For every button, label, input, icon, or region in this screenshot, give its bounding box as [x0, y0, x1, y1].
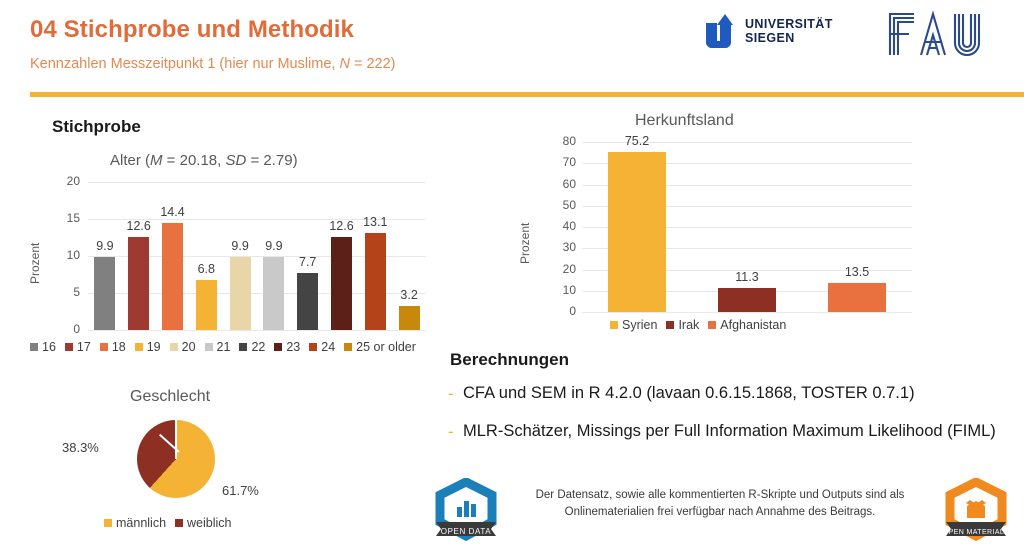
bar-label: 3.2	[391, 288, 428, 302]
bullet-text: MLR-Schätzer, Missings per Full Informat…	[463, 420, 996, 444]
alter-title-m: M	[150, 152, 163, 169]
fau-logo	[887, 10, 997, 58]
legend-item-16[interactable]: 16	[30, 340, 56, 354]
heading-stichprobe: Stichprobe	[52, 117, 141, 137]
bar-label: 9.9	[86, 239, 123, 253]
y-tick-label: 40	[536, 219, 576, 233]
y-tick-label: 80	[536, 134, 576, 148]
alter-legend: 16171819202122232425 or older	[30, 340, 425, 354]
bar-label: 6.8	[188, 262, 225, 276]
legend-label: Syrien	[622, 318, 657, 332]
bar-label: 7.7	[289, 255, 326, 269]
legend-swatch-icon	[344, 343, 352, 351]
list-item: - CFA und SEM in R 4.2.0 (lavaan 0.6.15.…	[448, 382, 1024, 406]
alter-title-sd: SD	[225, 152, 246, 169]
page-title: 04 Stichprobe und Methodik	[30, 16, 354, 44]
bullet-dash: -	[448, 382, 463, 406]
open-materials-badge-icon: OPEN MATERIALS	[934, 478, 1018, 548]
footer-note: Der Datensatz, sowie alle kommentierten …	[510, 487, 930, 520]
alter-title-mid1: = 20.18,	[163, 152, 226, 169]
open-materials-badge-label: OPEN MATERIALS	[943, 529, 1010, 536]
bar-Syrien	[608, 152, 665, 312]
legend-item-22[interactable]: 22	[239, 340, 265, 354]
y-tick-label: 70	[536, 155, 576, 169]
legend-swatch-icon	[65, 343, 73, 351]
bar-label: 11.3	[710, 270, 783, 284]
y-tick-label: 15	[46, 211, 80, 225]
bar-18	[162, 223, 183, 330]
alter-y-axis-label: Prozent	[28, 243, 42, 284]
subtitle-n-italic: N	[339, 56, 349, 72]
legend-label: 20	[182, 340, 196, 354]
berechnungen-list: - CFA und SEM in R 4.2.0 (lavaan 0.6.15.…	[448, 382, 1024, 458]
bar-24	[365, 233, 386, 330]
open-data-badge-label: OPEN DATA	[441, 527, 492, 536]
y-tick-label: 20	[46, 174, 80, 188]
accent-rule	[30, 92, 1024, 97]
legend-swatch-icon	[170, 343, 178, 351]
bar-Afghanistan	[828, 283, 885, 312]
legend-item-weiblich[interactable]: weiblich	[175, 516, 231, 530]
legend-swatch-icon	[666, 321, 674, 329]
siegen-line2: SIEGEN	[745, 31, 833, 45]
legend-label: männlich	[116, 516, 166, 530]
legend-label: 21	[217, 340, 231, 354]
legend-item-männlich[interactable]: männlich	[104, 516, 166, 530]
alter-chart-title: Alter (M = 20.18, SD = 2.79)	[110, 152, 298, 169]
legend-item-Irak[interactable]: Irak	[666, 318, 699, 332]
legend-label: 24	[321, 340, 335, 354]
alter-title-post: = 2.79)	[246, 152, 297, 169]
bullet-dash: -	[448, 420, 463, 444]
bar-21	[263, 257, 284, 330]
siegen-mark-icon	[706, 14, 738, 48]
y-tick-label: 30	[536, 240, 576, 254]
alter-plot-area: 9.912.614.46.89.99.97.712.613.13.2	[88, 182, 426, 330]
herkunftsland-legend: SyrienIrakAfghanistan	[610, 318, 795, 332]
legend-item-23[interactable]: 23	[274, 340, 300, 354]
list-item: - MLR-Schätzer, Missings per Full Inform…	[448, 420, 1024, 444]
legend-swatch-icon	[100, 343, 108, 351]
bar-20	[230, 257, 251, 330]
legend-item-20[interactable]: 20	[170, 340, 196, 354]
siegen-line1: UNIVERSITÄT	[745, 17, 833, 31]
y-tick-label: 20	[536, 262, 576, 276]
gridline	[582, 312, 912, 313]
legend-swatch-icon	[309, 343, 317, 351]
page-subtitle: Kennzahlen Messzeitpunkt 1 (hier nur Mus…	[30, 56, 396, 72]
alter-chart: Alter (M = 20.18, SD = 2.79) Prozent 051…	[22, 150, 434, 360]
legend-label: 22	[251, 340, 265, 354]
legend-item-21[interactable]: 21	[205, 340, 231, 354]
legend-swatch-icon	[104, 519, 112, 527]
y-tick-label: 0	[536, 304, 576, 318]
bar-Irak	[718, 288, 775, 312]
open-data-badge-icon: OPEN DATA	[424, 478, 508, 548]
bar-23	[331, 237, 352, 330]
bar-22	[297, 273, 318, 330]
legend-label: Irak	[678, 318, 699, 332]
legend-swatch-icon	[135, 343, 143, 351]
geschlecht-chart-title: Geschlecht	[130, 388, 210, 406]
herkunftsland-plot-area: 75.211.313.5	[582, 142, 912, 312]
legend-item-Syrien[interactable]: Syrien	[610, 318, 657, 332]
y-tick-label: 0	[46, 322, 80, 336]
legend-label: Afghanistan	[720, 318, 786, 332]
legend-item-25 or older[interactable]: 25 or older	[344, 340, 416, 354]
y-tick-label: 10	[46, 248, 80, 262]
legend-label: 19	[147, 340, 161, 354]
legend-item-19[interactable]: 19	[135, 340, 161, 354]
heading-berechnungen: Berechnungen	[450, 350, 569, 370]
legend-swatch-icon	[30, 343, 38, 351]
bar-label: 12.6	[323, 219, 360, 233]
legend-label: 23	[286, 340, 300, 354]
subtitle-pre: Kennzahlen Messzeitpunkt 1 (hier nur Mus…	[30, 56, 339, 72]
pie-label-weiblich: 38.3%	[62, 440, 99, 455]
geschlecht-legend: männlichweiblich	[104, 516, 241, 530]
legend-label: 16	[42, 340, 56, 354]
bar-16	[94, 257, 115, 330]
bullet-text: CFA und SEM in R 4.2.0 (lavaan 0.6.15.18…	[463, 382, 915, 406]
bar-label: 13.5	[820, 265, 893, 279]
legend-item-24[interactable]: 24	[309, 340, 335, 354]
legend-item-Afghanistan[interactable]: Afghanistan	[708, 318, 786, 332]
y-tick-label: 10	[536, 283, 576, 297]
bar-19	[196, 280, 217, 330]
alter-title-pre: Alter (	[110, 152, 150, 169]
slide: 04 Stichprobe und Methodik Kennzahlen Me…	[0, 0, 1024, 548]
y-tick-label: 5	[46, 285, 80, 299]
legend-label: 25 or older	[356, 340, 416, 354]
legend-swatch-icon	[610, 321, 618, 329]
bar-label: 75.2	[600, 134, 673, 148]
bar-label: 14.4	[154, 205, 191, 219]
gridline	[88, 182, 426, 183]
legend-swatch-icon	[239, 343, 247, 351]
legend-swatch-icon	[205, 343, 213, 351]
herkunftsland-chart: Herkunftsland Prozent 01020304050607080 …	[510, 112, 930, 342]
legend-label: 18	[112, 340, 126, 354]
bar-17	[128, 237, 149, 330]
geschlecht-chart: Geschlecht 38.3% 61.7% männlichweiblich	[52, 388, 402, 548]
y-tick-label: 50	[536, 198, 576, 212]
legend-swatch-icon	[175, 519, 183, 527]
herkunftsland-y-axis-label: Prozent	[518, 223, 532, 264]
bar-label: 13.1	[357, 215, 394, 229]
bar-label: 9.9	[255, 239, 292, 253]
bar-25 or older	[399, 306, 420, 330]
legend-label: weiblich	[187, 516, 231, 530]
siegen-wordmark: UNIVERSITÄT SIEGEN	[745, 17, 833, 45]
gridline	[88, 330, 426, 331]
subtitle-post: = 222)	[350, 56, 396, 72]
bar-label: 9.9	[222, 239, 259, 253]
legend-label: 17	[77, 340, 91, 354]
legend-item-18[interactable]: 18	[100, 340, 126, 354]
pie-label-maennlich: 61.7%	[222, 483, 259, 498]
herkunftsland-chart-title: Herkunftsland	[635, 112, 734, 130]
pie-separator-top	[175, 420, 177, 459]
legend-swatch-icon	[708, 321, 716, 329]
legend-item-17[interactable]: 17	[65, 340, 91, 354]
y-tick-label: 60	[536, 177, 576, 191]
legend-swatch-icon	[274, 343, 282, 351]
universitaet-siegen-logo: UNIVERSITÄT SIEGEN	[706, 14, 833, 48]
bar-label: 12.6	[120, 219, 157, 233]
